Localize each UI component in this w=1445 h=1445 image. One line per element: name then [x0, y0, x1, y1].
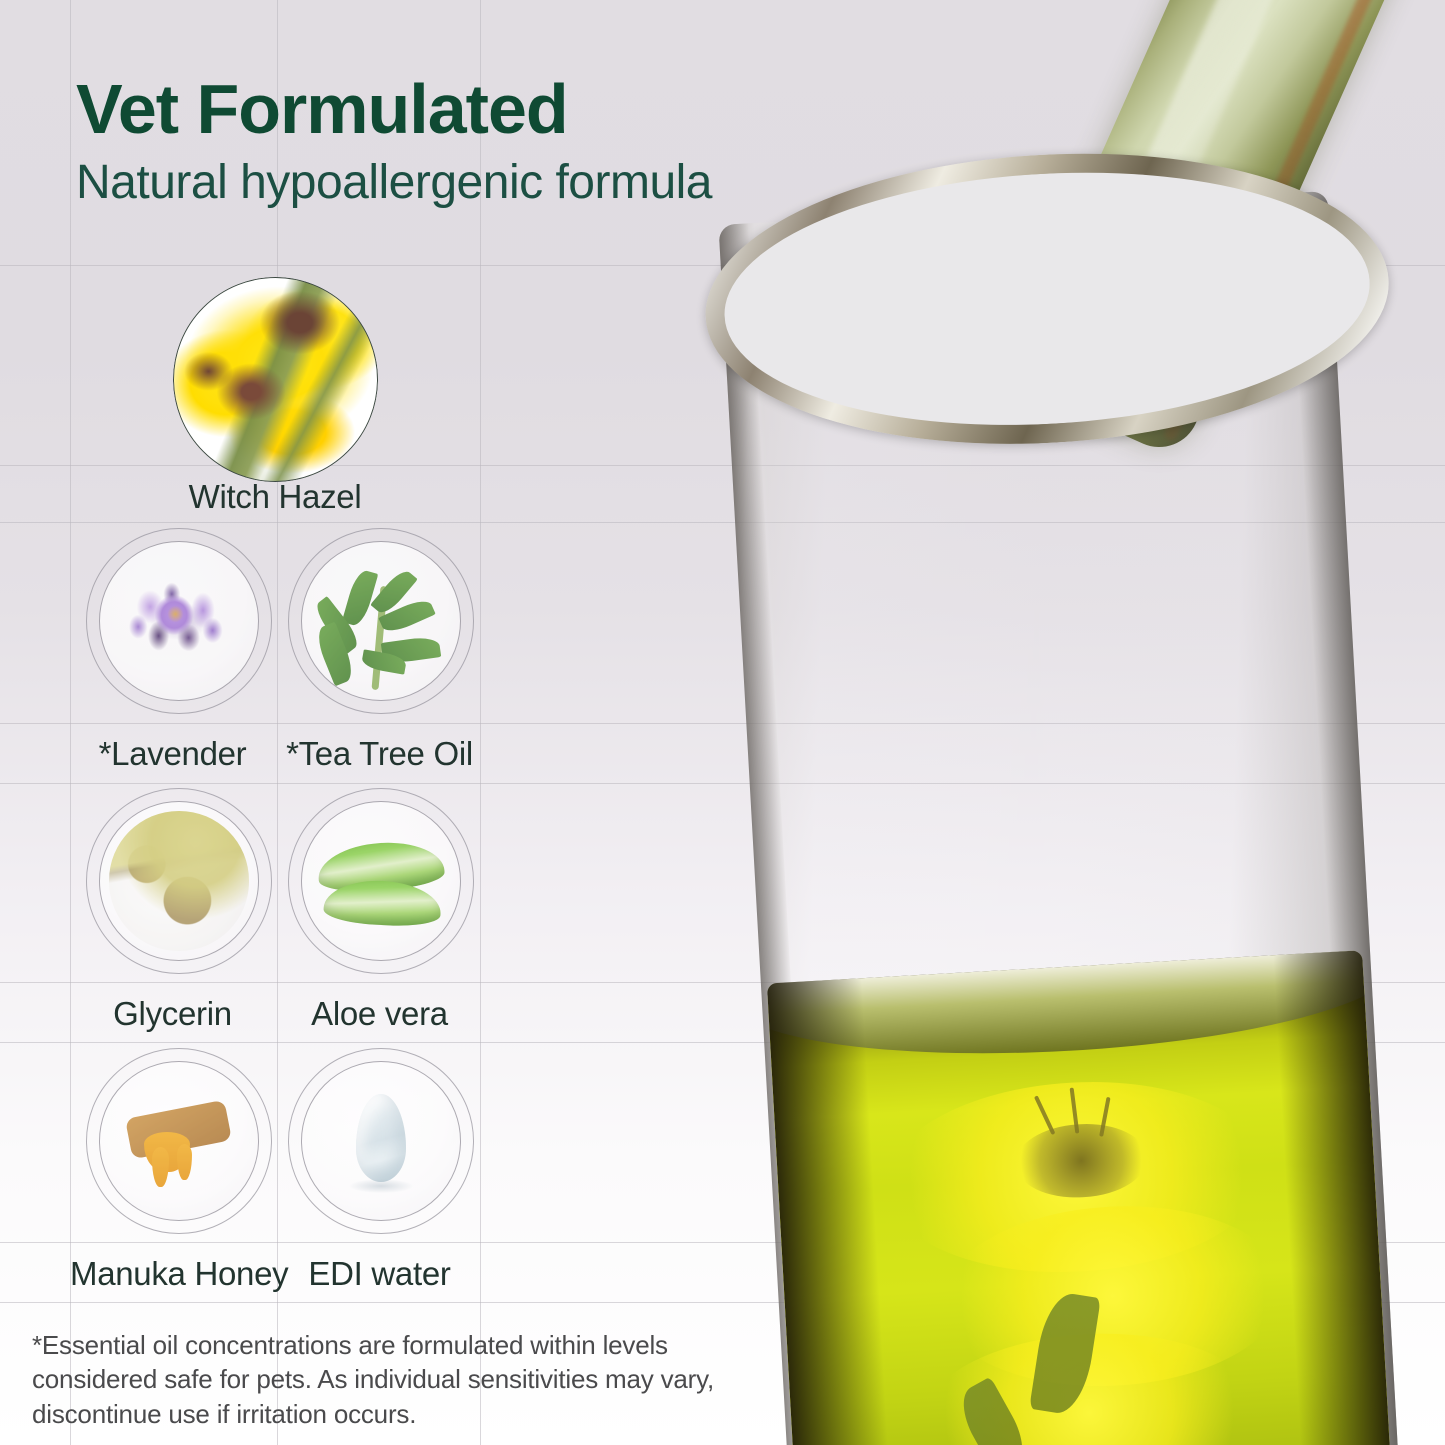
grid-line-h — [0, 522, 1445, 523]
ingredient-label-witch-hazel: Witch Hazel — [70, 478, 480, 516]
ingredient-label-lavender: *Lavender — [70, 735, 275, 773]
water-droplet — [356, 1094, 407, 1182]
grid-line-h — [0, 982, 1445, 983]
pipette-glass-tube — [1000, 0, 1445, 460]
page-title: Vet Formulated — [76, 74, 976, 144]
ingredient-label-edi-water: EDI water — [277, 1255, 482, 1293]
flower-center — [1014, 1120, 1149, 1201]
ingredient-edi-water — [288, 1048, 474, 1234]
honey-drip — [152, 1147, 169, 1187]
lavender-flower-image — [119, 574, 239, 666]
ingredient-tea-tree-oil — [288, 528, 474, 714]
page-subtitle: Natural hypoallergenic formula — [76, 158, 976, 208]
suspended-flower — [918, 1325, 1260, 1445]
pipette-edge-reflection — [1162, 0, 1445, 442]
vial-glass-body — [718, 191, 1399, 1445]
suspended-flower — [935, 1197, 1290, 1395]
suspended-leaf — [952, 1377, 1034, 1445]
product-photo — [600, 0, 1445, 1445]
ingredient-glycerin — [86, 788, 272, 974]
grid-line-h — [0, 1042, 1445, 1043]
ingredient-label-manuka-honey: Manuka Honey — [70, 1255, 275, 1293]
liquid-meniscus — [767, 950, 1391, 1069]
ingredient-witch-hazel — [173, 277, 378, 482]
grid-line-v — [70, 0, 71, 1445]
ingredient-label-tea-tree-oil: *Tea Tree Oil — [277, 735, 482, 773]
suspended-flower — [880, 1072, 1271, 1282]
aloe-vera-icon — [301, 801, 461, 961]
product-infographic: Vet Formulated Natural hypoallergenic fo… — [0, 0, 1445, 1445]
sprig-leaf — [342, 568, 379, 628]
grid-line-h — [0, 1242, 1445, 1243]
ingredient-aloe-vera — [288, 788, 474, 974]
edi-water-icon — [301, 1061, 461, 1221]
witch-hazel-icon — [173, 277, 378, 482]
serum-vial — [718, 191, 1399, 1445]
flower-stamen — [1070, 1087, 1080, 1133]
liquid-left-shadow — [767, 978, 892, 1445]
suspended-leaf — [1029, 1290, 1101, 1417]
manuka-honey-icon — [99, 1061, 259, 1221]
grid-line-h — [0, 783, 1445, 784]
witch-hazel-flower-image — [173, 277, 378, 482]
serum-liquid — [767, 950, 1391, 1445]
ingredient-manuka-honey — [86, 1048, 272, 1234]
glycerin-droplets-image — [109, 811, 248, 950]
ingredient-lavender — [86, 528, 272, 714]
grid-line-h — [0, 265, 1445, 266]
ingredient-label-glycerin: Glycerin — [70, 995, 275, 1033]
grid-line-v — [480, 0, 481, 1445]
liquid-right-shadow — [1273, 950, 1392, 1445]
vial-right-edge — [1288, 191, 1400, 1445]
grid-line-h — [0, 1302, 1445, 1303]
grid-line-h — [0, 723, 1445, 724]
grid-line-v — [277, 0, 278, 1445]
lavender-icon — [99, 541, 259, 701]
flower-stamen — [1099, 1096, 1110, 1136]
flower-stamen — [1034, 1096, 1056, 1136]
ingredient-label-aloe-vera: Aloe vera — [277, 995, 482, 1033]
headline-block: Vet Formulated Natural hypoallergenic fo… — [76, 74, 976, 208]
vial-left-edge — [718, 223, 820, 1445]
honey-drip — [177, 1144, 192, 1180]
glycerin-icon — [99, 801, 259, 961]
pipette-highlight — [1048, 0, 1362, 399]
footnote-disclaimer: *Essential oil concentrations are formul… — [32, 1328, 722, 1431]
droplet-shadow — [349, 1179, 412, 1193]
tea-tree-oil-icon — [301, 541, 461, 701]
